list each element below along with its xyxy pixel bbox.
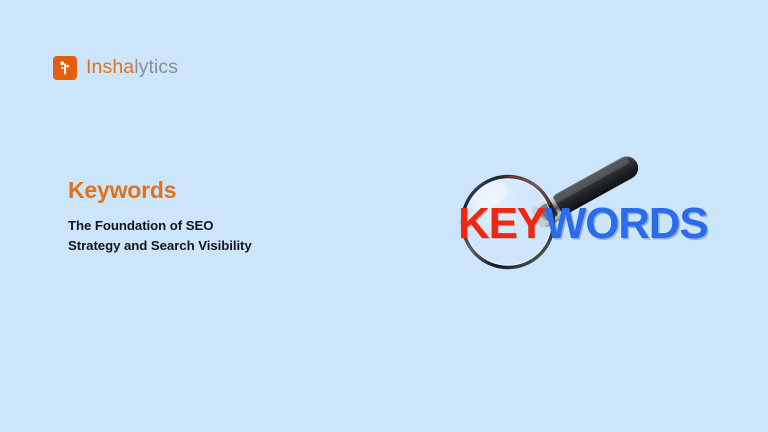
brand-wordmark-part-1: Insha [86, 56, 134, 78]
brand-wordmark-part-2: lytics [134, 56, 178, 78]
keywords-artwork-text-key: KEY [458, 199, 545, 248]
keywords-illustration: KEYWORDS [440, 140, 688, 288]
headline-block: Keywords The Foundation of SEO Strategy … [68, 178, 368, 255]
slide-canvas: Inshalytics Keywords The Foundation of S… [0, 0, 768, 432]
page-subtitle: The Foundation of SEO Strategy and Searc… [68, 216, 368, 255]
page-title: Keywords [68, 178, 368, 203]
keywords-artwork-text: KEYWORDS [458, 202, 708, 246]
inshalytics-logo-mark-icon [53, 56, 77, 80]
brand-wordmark: Inshalytics [86, 58, 178, 78]
brand-logo[interactable]: Inshalytics [53, 56, 178, 80]
keywords-artwork-text-words: WORDS [545, 199, 708, 248]
